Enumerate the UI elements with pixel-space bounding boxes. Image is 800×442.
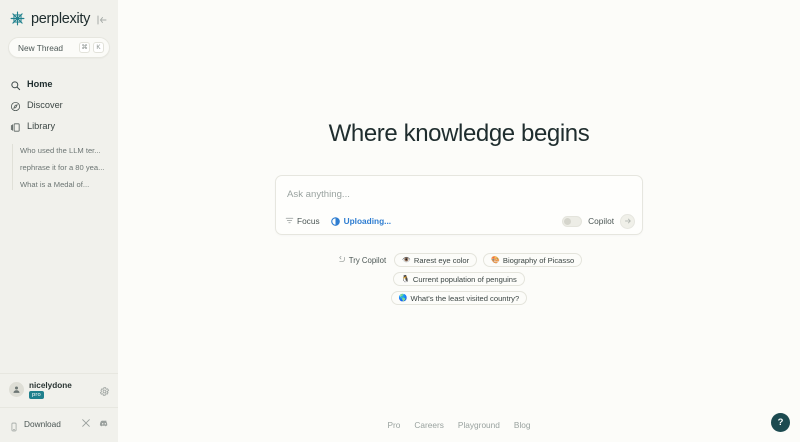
search-icon <box>10 78 21 89</box>
new-thread-button[interactable]: New Thread ⌘ K <box>8 37 110 58</box>
brand-logo[interactable]: perplexity <box>0 0 118 35</box>
upload-status-label: Uploading... <box>344 216 391 226</box>
perplexity-app: perplexity New Thread ⌘ K Home <box>0 0 800 442</box>
user-avatar-icon <box>9 382 24 397</box>
footer-link-careers[interactable]: Careers <box>414 420 444 430</box>
compass-icon <box>10 99 21 110</box>
list-item[interactable]: Who used the LLM ter... <box>18 142 118 159</box>
device-download-icon <box>9 419 19 429</box>
footer-link-pro[interactable]: Pro <box>387 420 400 430</box>
list-item[interactable]: rephrase it for a 80 yea... <box>18 159 118 176</box>
footer-link-playground[interactable]: Playground <box>458 420 500 430</box>
ask-input-placeholder[interactable]: Ask anything... <box>287 189 350 200</box>
new-thread-label: New Thread <box>18 43 63 53</box>
suggestion-chip[interactable]: 🎨 Biography of Picasso <box>483 253 582 267</box>
sidebar-item-discover[interactable]: Discover <box>0 94 118 115</box>
suggestion-chip-label: Current population of penguins <box>413 275 517 284</box>
copilot-sparkle-icon <box>338 255 346 265</box>
brand-name: perplexity <box>31 11 90 27</box>
footer-link-blog[interactable]: Blog <box>514 420 531 430</box>
sidebar-item-home[interactable]: Home <box>0 73 118 94</box>
library-books-icon <box>10 120 21 131</box>
shortcut-key-cmd: ⌘ <box>79 42 90 53</box>
suggestion-chip[interactable]: 🐧 Current population of penguins <box>393 272 525 286</box>
thread-history-list: Who used the LLM ter... rephrase it for … <box>0 142 118 193</box>
user-meta: nicelydone pro <box>29 381 72 399</box>
ask-actions: Copilot <box>562 214 635 229</box>
sidebar-nav: Home Discover Library Who u <box>0 73 118 193</box>
toggle-knob <box>564 218 571 225</box>
shortcut-key-k: K <box>93 42 104 53</box>
sidebar-footer: nicelydone pro Download <box>0 373 118 442</box>
penguin-emoji: 🐧 <box>401 276 410 283</box>
panel-collapse-icon[interactable] <box>96 13 108 25</box>
uploading-spinner-icon <box>331 217 340 226</box>
gear-icon[interactable] <box>99 384 110 395</box>
eye-emoji: 👁️ <box>402 257 411 264</box>
sidebar-item-home-label: Home <box>27 79 53 89</box>
suggestion-chip-label: What's the least visited country? <box>411 294 520 303</box>
try-copilot-button[interactable]: Try Copilot <box>336 253 388 267</box>
user-name: nicelydone <box>29 381 72 390</box>
focus-filter-icon <box>285 216 294 227</box>
suggestion-chip[interactable]: 👁️ Rarest eye color <box>394 253 477 267</box>
list-item[interactable]: What is a Medal of... <box>18 176 118 193</box>
sidebar: perplexity New Thread ⌘ K Home <box>0 0 118 442</box>
focus-button[interactable]: Focus <box>285 216 320 227</box>
suggestion-chip[interactable]: 🌎 What's the least visited country? <box>391 291 527 305</box>
footer-links: Pro Careers Playground Blog <box>118 420 800 430</box>
sidebar-item-library[interactable]: Library <box>0 115 118 136</box>
main-content: Where knowledge begins Ask anything... F… <box>118 0 800 442</box>
submit-button[interactable] <box>620 214 635 229</box>
suggestion-chips-row2: 🌎 What's the least visited country? <box>269 291 649 305</box>
focus-label: Focus <box>297 216 320 226</box>
x-twitter-icon[interactable] <box>81 415 91 433</box>
arrow-right-icon <box>624 212 632 230</box>
palette-emoji: 🎨 <box>491 257 500 264</box>
copilot-label: Copilot <box>588 216 614 226</box>
suggestion-chips-row1: Try Copilot 👁️ Rarest eye color 🎨 Biogra… <box>269 253 649 286</box>
user-profile-row[interactable]: nicelydone pro <box>0 373 118 407</box>
copilot-toggle[interactable] <box>562 216 582 227</box>
status-badge: pro <box>29 391 44 399</box>
sidebar-item-library-label: Library <box>27 121 55 131</box>
ask-toolbar: Focus Uploading... Copilot <box>276 208 642 234</box>
download-row[interactable]: Download <box>0 407 118 442</box>
try-copilot-label: Try Copilot <box>349 256 386 265</box>
perplexity-starburst-icon <box>9 10 26 27</box>
ask-input-box[interactable]: Ask anything... Focus <box>275 175 643 235</box>
download-label: Download <box>24 419 61 429</box>
social-links <box>81 415 109 433</box>
page-title: Where knowledge begins <box>329 120 590 148</box>
new-thread-shortcut: ⌘ K <box>79 42 104 53</box>
globe-emoji: 🌎 <box>399 295 408 302</box>
upload-status: Uploading... <box>331 216 391 226</box>
suggestion-chip-label: Biography of Picasso <box>503 256 574 265</box>
help-button[interactable]: ? <box>771 413 790 432</box>
sidebar-item-discover-label: Discover <box>27 100 63 110</box>
suggestion-chip-label: Rarest eye color <box>414 256 469 265</box>
discord-icon[interactable] <box>99 415 109 433</box>
